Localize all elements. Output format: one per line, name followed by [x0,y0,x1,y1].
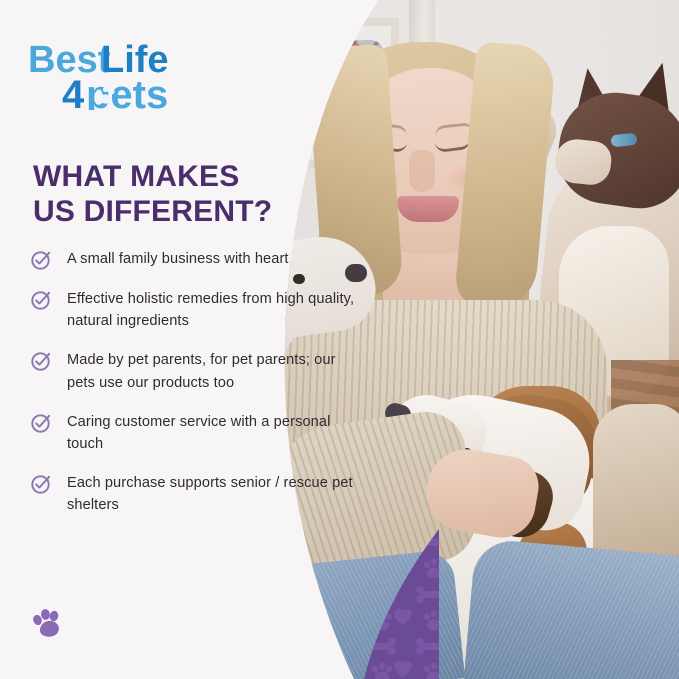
check-circle-icon [30,289,52,311]
list-item: Effective holistic remedies from high qu… [30,288,375,332]
check-circle-icon [30,350,52,372]
headline-line-1: WHAT MAKES [33,160,239,193]
paw-print-icon [28,604,68,644]
brand-logo[interactable]: Best Life 4 pets [28,34,218,110]
marketing-banner: Best Life 4 pets WHAT MAKES US DIFFERENT… [0,0,679,679]
jeans-right [463,538,679,679]
benefits-list: A small family business with heart Effec… [30,248,375,533]
check-circle-icon [30,412,52,434]
check-circle-icon [30,473,52,495]
list-item: A small family business with heart [30,248,375,271]
content-panel: Best Life 4 pets WHAT MAKES US DIFFERENT… [0,0,400,679]
list-item-label: Made by pet parents, for pet parents; ou… [67,349,367,393]
list-item: Each purchase supports senior / rescue p… [30,472,375,516]
list-item-label: Effective holistic remedies from high qu… [67,288,367,332]
check-circle-icon [30,249,52,271]
list-item: Made by pet parents, for pet parents; ou… [30,349,375,393]
page-title: WHAT MAKES US DIFFERENT? [33,160,363,230]
list-item-label: A small family business with heart [67,248,289,270]
list-item: Caring customer service with a personal … [30,411,375,455]
logo-text-four: 4 [62,73,85,110]
list-item-label: Each purchase supports senior / rescue p… [67,472,367,516]
woman-nose [409,150,435,192]
headline-line-2: US DIFFERENT? [33,195,363,230]
woman-smile [397,196,459,222]
list-item-label: Caring customer service with a personal … [67,411,367,455]
